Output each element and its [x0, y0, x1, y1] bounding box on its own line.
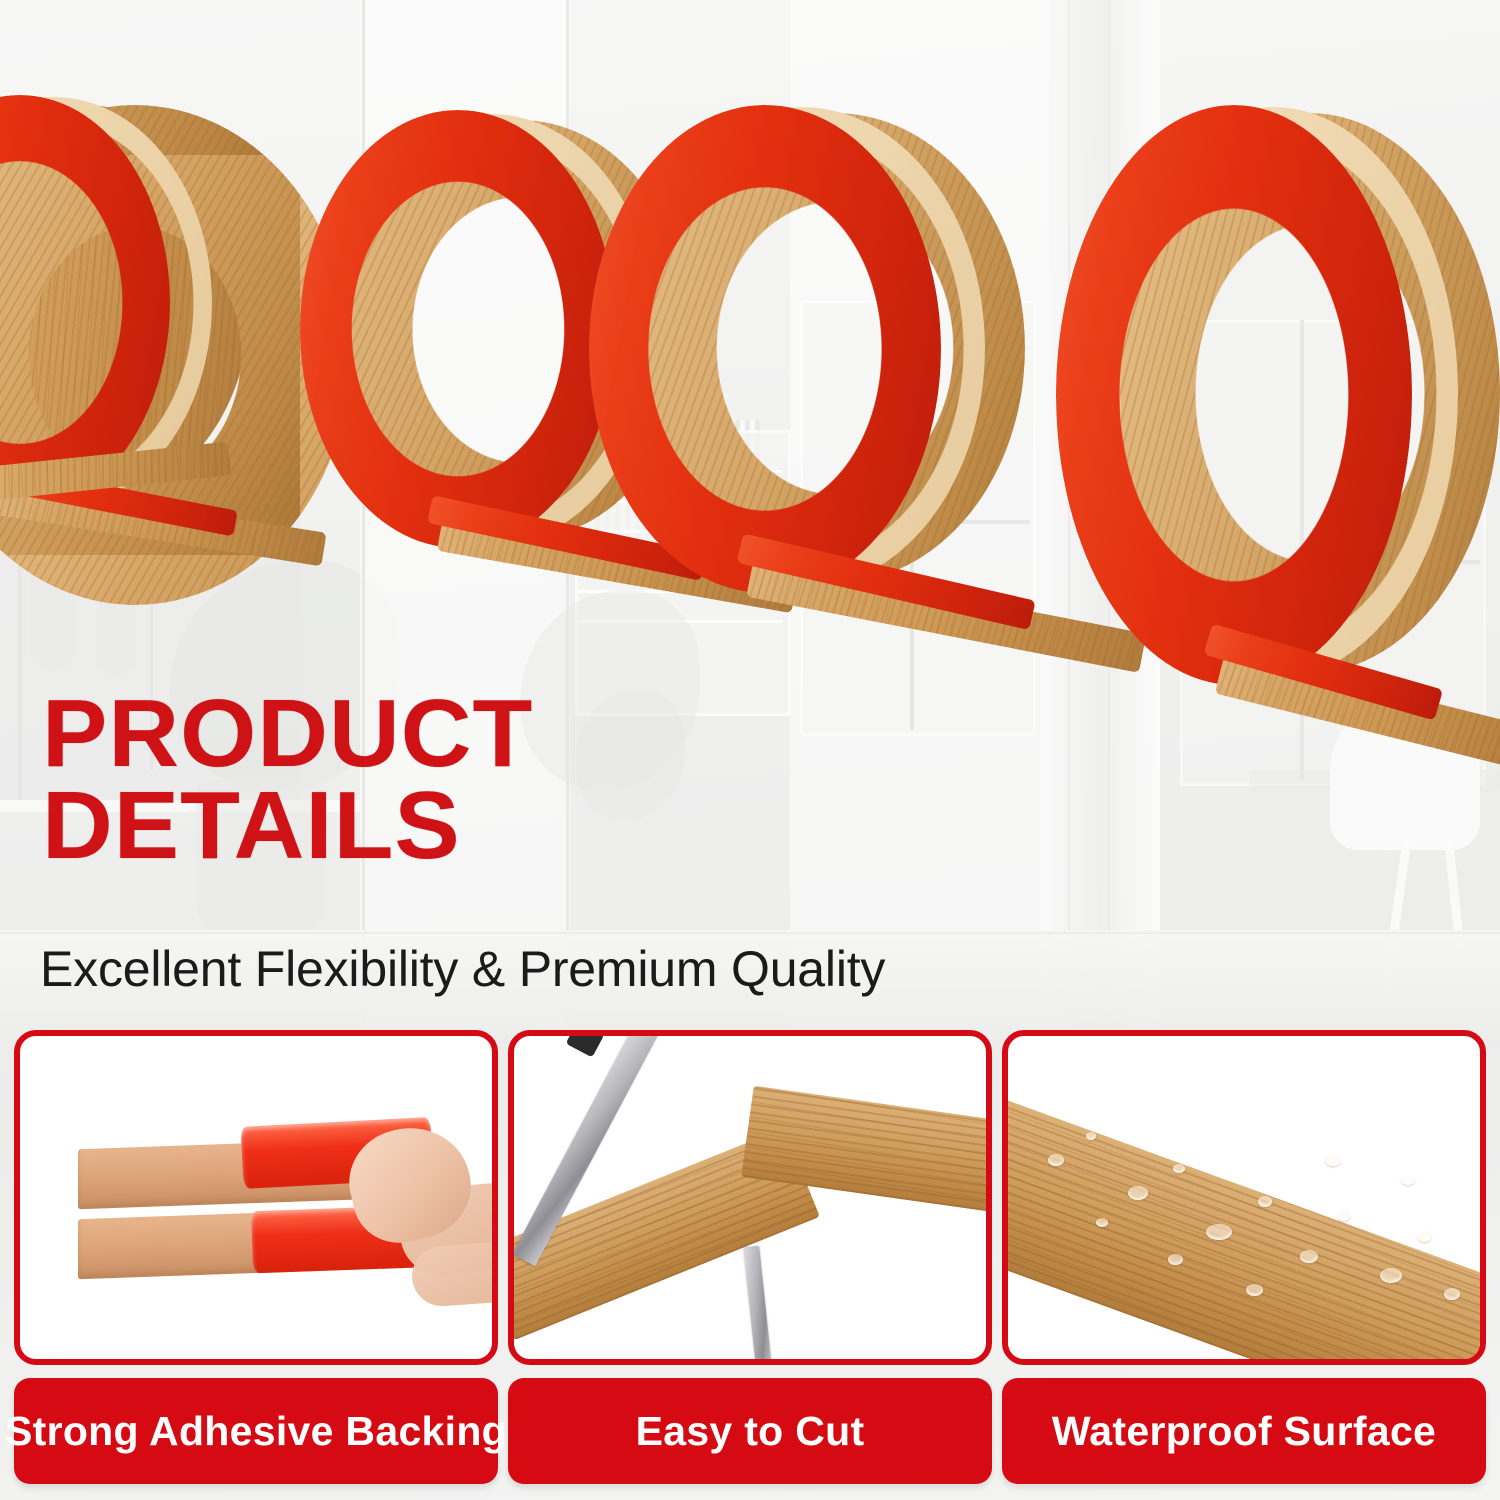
scissors-handle [566, 1030, 605, 1058]
caption-banner-waterproof: Waterproof Surface [1002, 1378, 1486, 1484]
cut-photo [514, 1036, 986, 1359]
feature-panel-waterproof [1002, 1030, 1486, 1365]
waterproof-photo [1008, 1036, 1480, 1359]
caption-text-adhesive: Strong Adhesive Backing [5, 1408, 507, 1455]
feature-panels: Strong Adhesive Backing Easy to Cut Wate… [0, 1030, 1500, 1500]
page-subtitle: Excellent Flexibility & Premium Quality [40, 940, 885, 998]
feature-panel-cut [508, 1030, 992, 1365]
caption-text-waterproof: Waterproof Surface [1052, 1408, 1436, 1455]
caption-text-cut: Easy to Cut [636, 1408, 865, 1455]
coil-4 [1040, 105, 1500, 765]
adhesive-photo [20, 1036, 492, 1359]
coil-3 [575, 105, 1055, 635]
page-title: PRODUCT DETAILS [42, 688, 533, 872]
caption-banner-cut: Easy to Cut [508, 1378, 992, 1484]
caption-banner-adhesive: Strong Adhesive Backing [14, 1378, 498, 1484]
feature-panel-adhesive [14, 1030, 498, 1365]
product-details-infographic: PRODUCT DETAILS Excellent Flexibility & … [0, 0, 1500, 1500]
